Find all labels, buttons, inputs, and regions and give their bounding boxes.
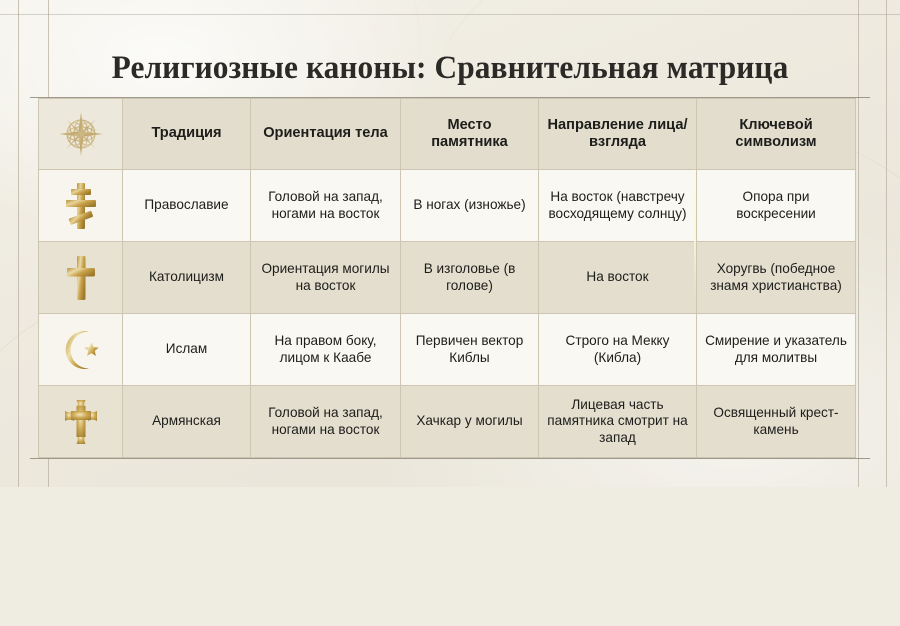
cell-face-direction: На восток xyxy=(539,242,697,314)
cell-face-direction: Строго на Мекку (Кибла) xyxy=(539,314,697,386)
cell-key-symbolism: Смирение и указатель для молитвы xyxy=(697,314,856,386)
decor-horizontal-rule-table-bottom xyxy=(30,458,870,459)
cell-tradition: Ислам xyxy=(123,314,251,386)
comparison-matrix-table: Традиция Ориентация тела Место памятника… xyxy=(38,98,856,458)
compass-rose-icon xyxy=(46,103,115,165)
page-title: Религиозные каноны: Сравнительная матриц… xyxy=(23,48,878,88)
cell-body-orientation: На правом боку, лицом к Каабе xyxy=(251,314,401,386)
table-row: Католицизм Ориентация могилы на восток В… xyxy=(39,242,856,314)
cell-tradition: Католицизм xyxy=(123,242,251,314)
column-header-monument-place: Место памятника xyxy=(401,99,539,170)
latin-cross-icon xyxy=(46,254,115,302)
cell-tradition: Православие xyxy=(123,170,251,242)
orthodox-cross-icon xyxy=(46,181,115,231)
row-icon-cell xyxy=(39,386,123,458)
column-header-body-orientation: Ориентация тела xyxy=(251,99,401,170)
decor-vertical-line-right-outer xyxy=(886,0,887,487)
column-header-key-symbolism: Ключевой символизм xyxy=(697,99,856,170)
cell-key-symbolism: Освященный крест-камень xyxy=(697,386,856,458)
column-header-tradition: Традиция xyxy=(123,99,251,170)
cell-face-direction: На восток (навстречу восходящему солнцу) xyxy=(539,170,697,242)
table-corner-cell xyxy=(39,99,123,170)
cell-body-orientation: Головой на запад, ногами на восток xyxy=(251,170,401,242)
cell-key-symbolism: Опора при воскресении xyxy=(697,170,856,242)
cell-body-orientation: Ориентация могилы на восток xyxy=(251,242,401,314)
table-row: Православие Головой на запад, ногами на … xyxy=(39,170,856,242)
row-icon-cell xyxy=(39,314,123,386)
row-icon-cell xyxy=(39,170,123,242)
cell-monument-place: Первичен вектор Киблы xyxy=(401,314,539,386)
column-header-face-direction: Направление лица/взгляда xyxy=(539,99,697,170)
table-row: Ислам На правом боку, лицом к Каабе Перв… xyxy=(39,314,856,386)
cell-tradition: Армянская xyxy=(123,386,251,458)
crescent-star-icon xyxy=(46,327,115,373)
table-header-row: Традиция Ориентация тела Место памятника… xyxy=(39,99,856,170)
armenian-cross-icon xyxy=(46,398,115,446)
cell-face-direction: Лицевая часть памятника смотрит на запад xyxy=(539,386,697,458)
cell-monument-place: Хачкар у могилы xyxy=(401,386,539,458)
decor-vertical-line-left-outer xyxy=(18,0,19,487)
decor-horizontal-rule-top xyxy=(0,14,900,15)
cell-monument-place: В изголовье (в голове) xyxy=(401,242,539,314)
cell-key-symbolism: Хоругвь (победное знамя христианства) xyxy=(697,242,856,314)
table-row: Армянская Головой на запад, ногами на во… xyxy=(39,386,856,458)
cell-monument-place: В ногах (изножье) xyxy=(401,170,539,242)
cell-body-orientation: Головой на запад, ногами на восток xyxy=(251,386,401,458)
row-icon-cell xyxy=(39,242,123,314)
